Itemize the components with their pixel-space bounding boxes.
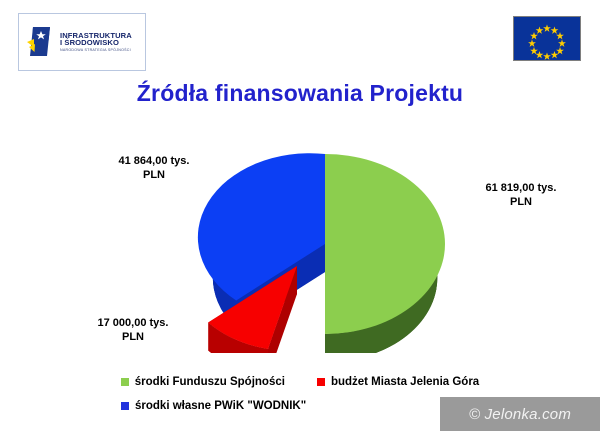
slide-canvas: INFRASTRUKTURA I ŚRODOWISKO NARODOWA STR… <box>0 0 600 431</box>
data-label-blue-line1: 41 864,00 tys. <box>88 155 220 169</box>
legend-swatch-green-icon <box>121 378 129 386</box>
data-label-red-line2: PLN <box>62 331 204 345</box>
data-label-blue-line2: PLN <box>88 169 220 183</box>
european-union-flag <box>513 16 581 61</box>
logo-line-2: I ŚRODOWISKO <box>60 39 132 47</box>
legend-label-budzet-miasta: budżet Miasta Jelenia Góra <box>331 376 479 388</box>
page-title: Źródła finansowania Projektu <box>0 80 600 107</box>
pie-slice-green <box>325 154 445 353</box>
data-label-red-line1: 17 000,00 tys. <box>62 317 204 331</box>
data-label-green-line1: 61 819,00 tys. <box>455 182 587 196</box>
legend-label-fundusz-spojnosci: środki Funduszu Spójności <box>135 376 285 388</box>
legend-row-1: środki Funduszu Spójności budżet Miasta … <box>0 370 600 394</box>
program-logo-mark-icon <box>27 25 53 59</box>
legend-item-fundusz-spojnosci[interactable]: środki Funduszu Spójności <box>121 376 285 388</box>
watermark-text: © Jelonka.com <box>469 406 571 423</box>
data-label-blue: 41 864,00 tys. PLN <box>88 155 220 183</box>
legend-item-budzet-miasta[interactable]: budżet Miasta Jelenia Góra <box>317 376 479 388</box>
pie-chart: 41 864,00 tys. PLN 61 819,00 tys. PLN 17… <box>0 120 600 365</box>
data-label-green: 61 819,00 tys. PLN <box>455 182 587 210</box>
data-label-red: 17 000,00 tys. PLN <box>62 317 204 345</box>
infrastruktura-i-srodowisko-logo: INFRASTRUKTURA I ŚRODOWISKO NARODOWA STR… <box>18 13 146 71</box>
legend-item-pwik-wodnik[interactable]: środki własne PWiK "WODNIK" <box>121 400 306 412</box>
legend-label-pwik-wodnik: środki własne PWiK "WODNIK" <box>135 400 306 412</box>
legend-swatch-blue-icon <box>121 402 129 410</box>
data-label-green-line2: PLN <box>455 196 587 210</box>
legend-swatch-red-icon <box>317 378 325 386</box>
watermark: © Jelonka.com <box>440 397 600 431</box>
logo-line-3: NARODOWA STRATEGIA SPÓJNOŚCI <box>60 49 132 53</box>
